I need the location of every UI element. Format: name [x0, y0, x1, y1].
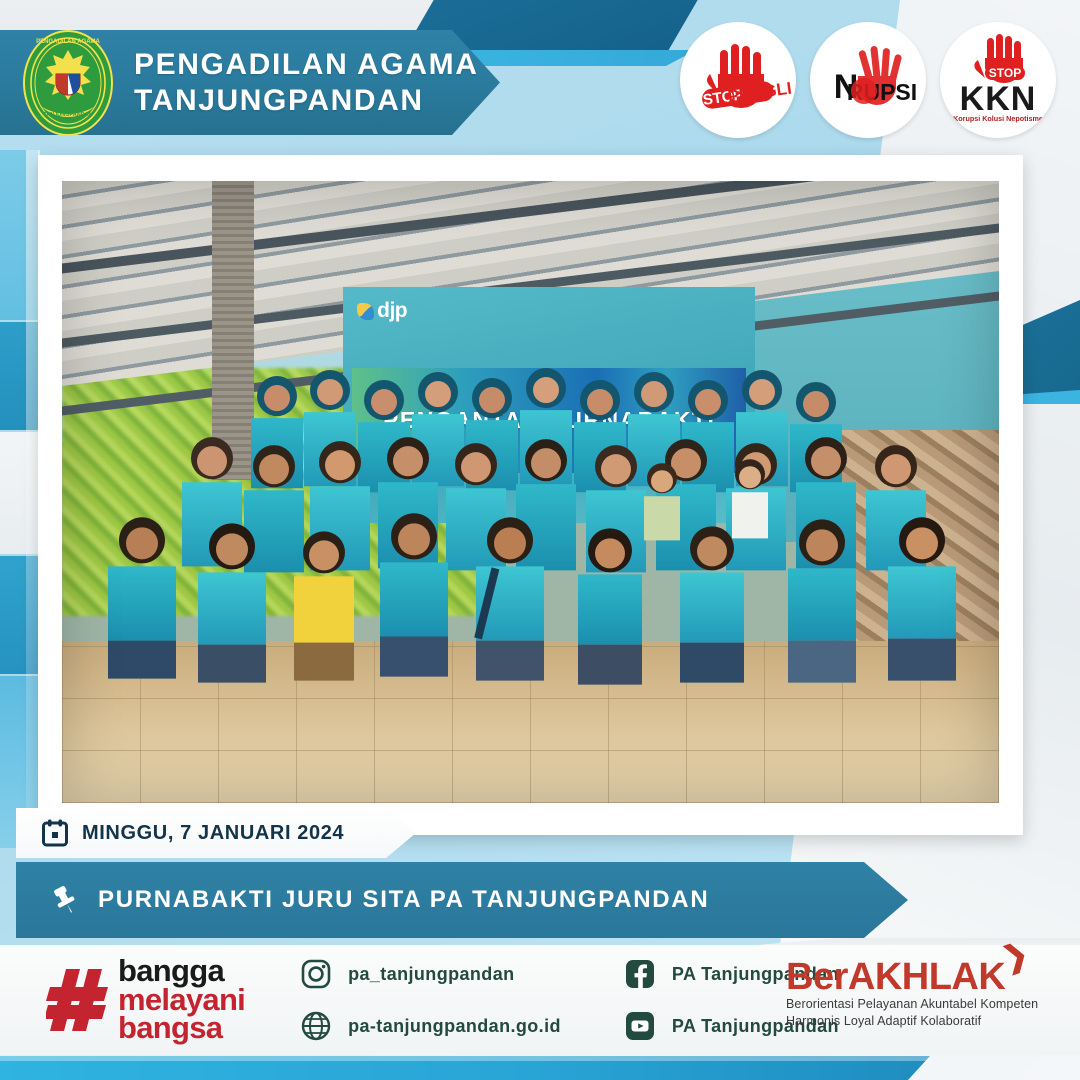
berakhlak-tagline-1: Berorientasi Pelayanan Akuntabel Kompete… [786, 996, 1036, 1013]
youtube-icon [625, 1011, 655, 1041]
berakhlak-logo: BerAKHLAK ❯ Berorientasi Pelayanan Akunt… [786, 958, 1036, 1030]
svg-text:STOP: STOP [989, 66, 1021, 80]
red-hand-icon: STOP PUNGLI [680, 22, 796, 138]
svg-text:PENGADILAN AGAMA: PENGADILAN AGAMA [36, 39, 100, 45]
contact-instagram[interactable]: pa_tanjungpandan [301, 959, 561, 989]
instagram-icon [301, 959, 331, 989]
bangga-line-3: bangsa [118, 1014, 245, 1043]
hashtag-icon [46, 965, 112, 1035]
svg-text:KKN: KKN [960, 80, 1037, 118]
facebook-icon [625, 959, 655, 989]
contact-website[interactable]: pa-tanjungpandan.go.id [301, 1011, 561, 1041]
page-title-line-1: PENGADILAN AGAMA [134, 47, 478, 82]
berakhlak-prefix: Ber [786, 956, 848, 998]
event-date-bar: MINGGU, 7 JANUARI 2024 [16, 808, 416, 858]
svg-text:Korupsi Kolusi Nepotisme: Korupsi Kolusi Nepotisme [953, 114, 1043, 123]
berakhlak-wordmark: BerAKHLAK ❯ [786, 958, 1005, 996]
anti-corruption-badges: STOP PUNGLI PUNGLI N RUPSI KORUPSI [680, 22, 1056, 138]
berakhlak-main: AKHLAK [848, 956, 1005, 998]
contacts-column-left: pa_tanjungpandan pa-tanjungpandan.go.id [301, 959, 561, 1041]
pin-icon [50, 885, 80, 915]
event-title-text: PURNABAKTI JURU SITA PA TANJUNGPANDAN [98, 886, 709, 914]
photo-vignette [62, 181, 999, 803]
globe-icon [301, 1011, 331, 1041]
page-title-line-2: TANJUNGPANDAN [134, 83, 478, 118]
contact-website-label: pa-tanjungpandan.go.id [348, 1016, 561, 1037]
event-title-bar: PURNABAKTI JURU SITA PA TANJUNGPANDAN [16, 862, 908, 938]
header-title-group: PENGADILAN AGAMA TANJUNGPANDAN [134, 47, 478, 118]
bangga-melayani-bangsa-logo: bangga melayani bangsa [46, 957, 245, 1043]
calendar-icon [42, 819, 68, 847]
court-seal-icon: TANJUNGPANDAN PENGADILAN AGAMA [20, 28, 116, 138]
bottom-accent-highlight [0, 1056, 930, 1061]
badge-no-korupsi: N RUPSI KORUPSI [810, 22, 926, 138]
red-hand-icon: STOP KKN Korupsi Kolusi Nepotisme [940, 22, 1056, 138]
photo-card: djp PENGANTAR PURNABAKTI [38, 155, 1023, 835]
event-photo: djp PENGANTAR PURNABAKTI [62, 181, 999, 803]
badge-stop-pungli: STOP PUNGLI PUNGLI [680, 22, 796, 138]
red-hand-icon: N RUPSI [810, 22, 926, 138]
bangga-text-group: bangga melayani bangsa [118, 957, 245, 1043]
contact-instagram-label: pa_tanjungpandan [348, 964, 514, 985]
event-date-text: MINGGU, 7 JANUARI 2024 [82, 822, 344, 845]
svg-text:TANJUNGPANDAN: TANJUNGPANDAN [43, 112, 92, 118]
berakhlak-tagline-2: Harmonis Loyal Adaptif Kolaboratif [786, 1013, 1036, 1030]
header-banner: TANJUNGPANDAN PENGADILAN AGAMA PENGADILA… [0, 30, 500, 135]
badge-stop-kkn: STOP KKN Korupsi Kolusi Nepotisme Korups… [940, 22, 1056, 138]
